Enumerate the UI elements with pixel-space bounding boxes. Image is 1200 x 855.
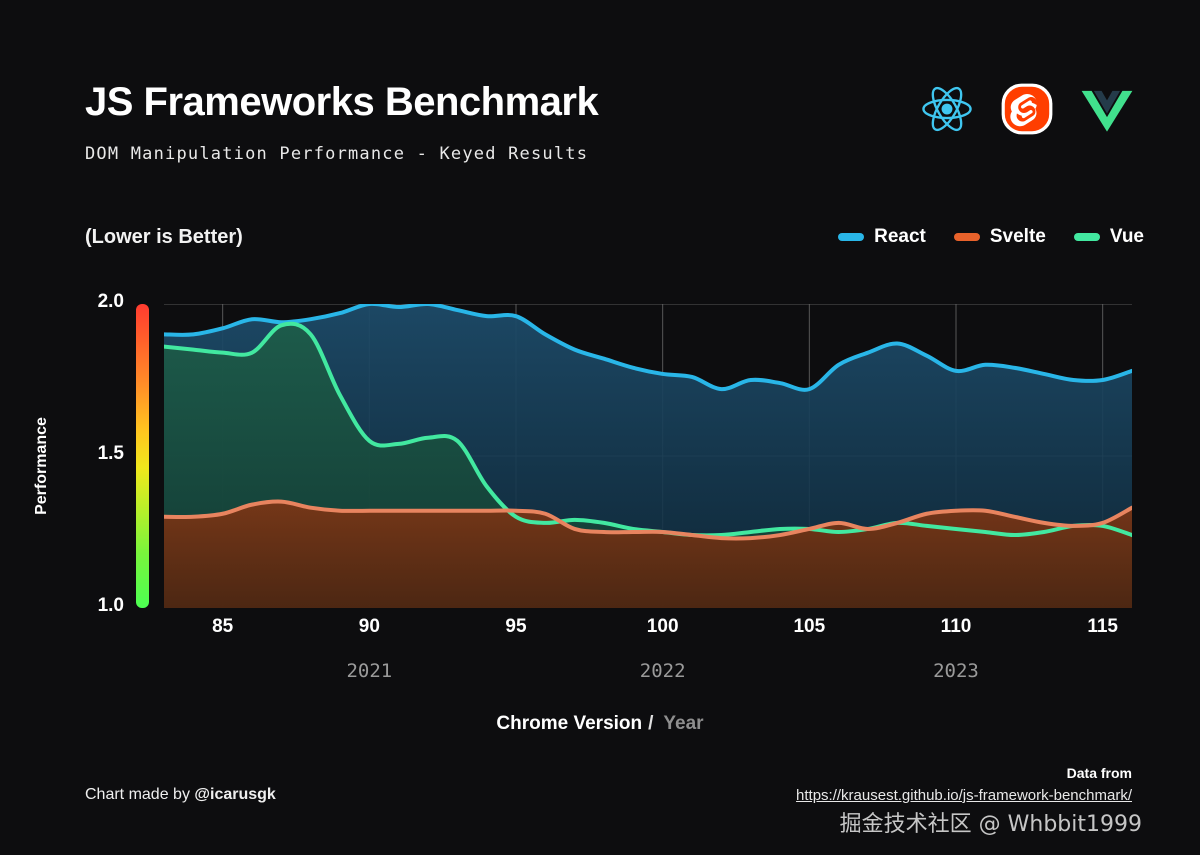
y-axis-tick: 1.5 xyxy=(98,443,124,465)
x-axis-title-main: Chrome Version xyxy=(496,713,642,734)
framework-logo-row xyxy=(918,80,1136,138)
chart-plot-area xyxy=(164,304,1132,608)
x-axis-tick: 95 xyxy=(505,616,526,638)
x-axis-year-label: 2022 xyxy=(640,660,686,682)
y-axis-tick: 1.0 xyxy=(98,595,124,617)
vue-logo-icon xyxy=(1078,80,1136,138)
chart-credit: Chart made by @icarusgk xyxy=(85,786,276,804)
x-axis-tick: 85 xyxy=(212,616,233,638)
page-title: JS Frameworks Benchmark xyxy=(85,80,598,125)
x-axis-year-label: 2023 xyxy=(933,660,979,682)
chart-svg xyxy=(164,304,1132,608)
y-axis-tick: 2.0 xyxy=(98,291,124,313)
chart-areas xyxy=(164,304,1132,608)
legend-item-react[interactable]: React xyxy=(838,226,926,248)
data-from-label: Data from xyxy=(796,765,1132,781)
x-axis-tick: 100 xyxy=(647,616,679,638)
legend-swatch-vue xyxy=(1074,233,1100,241)
react-logo-icon xyxy=(918,80,976,138)
svelte-logo-icon xyxy=(998,80,1056,138)
x-axis-tick: 110 xyxy=(941,616,972,638)
x-axis-tick: 105 xyxy=(793,616,825,638)
data-source-link[interactable]: https://krausest.github.io/js-framework-… xyxy=(796,787,1132,804)
legend-label-svelte: Svelte xyxy=(990,226,1046,248)
x-axis-year-label: 2021 xyxy=(346,660,392,682)
y-axis-ticks: 2.01.51.0 xyxy=(76,304,124,608)
x-axis-tick: 90 xyxy=(359,616,380,638)
legend-label-react: React xyxy=(874,226,926,248)
credit-handle: @icarusgk xyxy=(194,786,275,803)
x-axis-title: Chrome Version/Year xyxy=(0,713,1200,735)
y-axis-title: Performance xyxy=(30,386,54,546)
legend-item-vue[interactable]: Vue xyxy=(1074,226,1144,248)
performance-colorbar xyxy=(136,304,149,608)
legend: React Svelte Vue xyxy=(838,226,1144,248)
legend-swatch-svelte xyxy=(954,233,980,241)
page-subtitle: DOM Manipulation Performance - Keyed Res… xyxy=(85,144,588,164)
legend-item-svelte[interactable]: Svelte xyxy=(954,226,1046,248)
x-axis-ticks: 859095100105110115 xyxy=(164,616,1132,646)
legend-swatch-react xyxy=(838,233,864,241)
watermark: 掘金技术社区 @ Whbbit1999 xyxy=(840,806,1142,838)
legend-label-vue: Vue xyxy=(1110,226,1144,248)
x-axis-title-secondary: Year xyxy=(663,713,703,734)
lower-is-better-note: (Lower is Better) xyxy=(85,226,243,249)
credit-prefix: Chart made by xyxy=(85,786,194,803)
x-axis-tick: 115 xyxy=(1087,616,1118,638)
data-source-block: Data from https://krausest.github.io/js-… xyxy=(796,765,1132,805)
chart-page: JS Frameworks Benchmark DOM Manipulation… xyxy=(0,0,1200,855)
x-axis-year-ticks: 202120222023 xyxy=(164,660,1132,688)
